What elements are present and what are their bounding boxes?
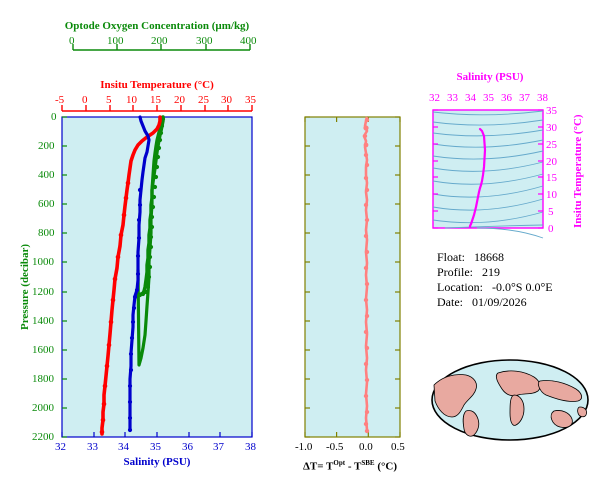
salinity-axis-title: Salinity (PSU)	[62, 457, 252, 468]
pressure-tick-2: 400	[38, 170, 55, 181]
info-profile-value: 219	[482, 265, 500, 279]
delta-t-axis-title: ΔT= TOpt - TSBE (°C)	[303, 460, 397, 473]
pressure-axis-title: Pressure (decibar)	[20, 244, 31, 330]
delta-t-plot-area	[295, 0, 425, 497]
ts-temp-tick-10: 10	[546, 190, 557, 201]
pressure-tick-8: 1600	[32, 345, 54, 356]
info-float-label: Float:	[437, 250, 465, 264]
pressure-tick-7: 1400	[32, 316, 54, 327]
info-float-value: 18668	[474, 250, 504, 264]
ts-temp-tick-5: 5	[548, 207, 554, 218]
pressure-tick-9: 1800	[32, 374, 54, 385]
pressure-tick-0: 0	[51, 112, 57, 123]
delta-t-sup-sbe: SBE	[361, 459, 374, 467]
pressure-tick-4: 800	[38, 228, 55, 239]
ts-temp-tick-0: 0	[548, 224, 554, 235]
ts-temp-tick-20: 20	[546, 157, 557, 168]
salinity-tick-0: 32	[55, 442, 66, 453]
salinity-tick-3: 35	[150, 442, 161, 453]
delta-t-tick-3: 0.5	[391, 442, 405, 453]
info-date-row: Date: 01/09/2026	[437, 295, 597, 310]
ts-temp-tick-15: 15	[546, 173, 557, 184]
delta-t-title-part1: ΔT= T	[303, 461, 333, 473]
delta-t-tick-2: 0.0	[359, 442, 373, 453]
salinity-tick-5: 37	[213, 442, 224, 453]
delta-t-tick-0: -1.0	[295, 442, 312, 453]
info-location-label: Location:	[437, 280, 483, 294]
delta-t-panel: -1.0 -0.5 0.0 0.5 ΔT= TOpt - TSBE (°C)	[295, 0, 425, 497]
ts-temp-tick-30: 30	[546, 123, 557, 134]
info-profile-row: Profile: 219	[437, 265, 597, 280]
delta-t-tick-1: -0.5	[326, 442, 343, 453]
ts-temp-tick-25: 25	[546, 140, 557, 151]
delta-t-title-end: (°C)	[375, 461, 397, 473]
pressure-tick-11: 2200	[32, 432, 54, 443]
delta-t-title-mid: - T	[345, 461, 361, 473]
info-location-value: -0.0°S 0.0°E	[492, 280, 553, 294]
pressure-tick-3: 600	[38, 199, 55, 210]
info-location-row: Location: -0.0°S 0.0°E	[437, 280, 597, 295]
world-map	[428, 355, 593, 445]
salinity-tick-4: 36	[182, 442, 193, 453]
profile-plot-area	[0, 0, 300, 497]
delta-t-sup-opt: Opt	[333, 459, 345, 467]
float-info-block: Float: 18668 Profile: 219 Location: -0.0…	[437, 250, 597, 310]
pressure-tick-1: 200	[38, 141, 55, 152]
salinity-tick-2: 34	[118, 442, 129, 453]
info-profile-label: Profile:	[437, 265, 473, 279]
salinity-tick-1: 33	[87, 442, 98, 453]
ts-temperature-title: Insitu Temperature (°C)	[573, 114, 584, 228]
salinity-tick-6: 38	[245, 442, 256, 453]
info-date-label: Date:	[437, 295, 463, 309]
pressure-tick-5: 1000	[32, 257, 54, 268]
info-float-row: Float: 18668	[437, 250, 597, 265]
pressure-tick-10: 2000	[32, 403, 54, 414]
ts-temp-tick-35: 35	[546, 106, 557, 117]
ts-diagram-panel: Salinity (PSU) 32 33 34 35 36 37 38	[415, 0, 609, 260]
pressure-tick-6: 1200	[32, 287, 54, 298]
info-date-value: 01/09/2026	[472, 295, 527, 309]
main-profile-panel: Optode Oxygen Concentration (µm/kg) 0 10…	[0, 0, 300, 497]
